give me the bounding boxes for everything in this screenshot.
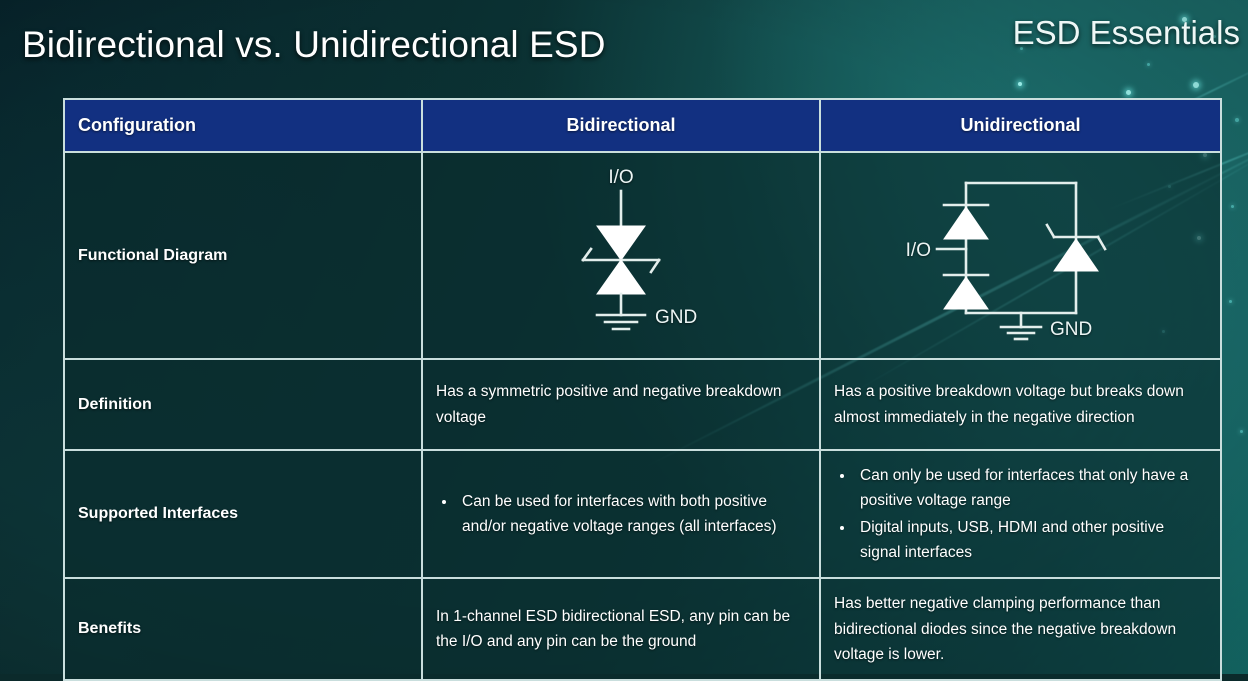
comparison-table: Configuration Bidirectional Unidirection… [63,98,1222,681]
table-row: Functional Diagram I/O [64,152,1221,359]
cell-text: Has a positive breakdown voltage but bre… [834,379,1206,429]
list-item: Digital inputs, USB, HDMI and other posi… [834,515,1206,565]
cell-text: Has a symmetric positive and negative br… [436,379,805,429]
io-label: I/O [905,240,930,261]
cell-text: Has better negative clamping performance… [834,591,1206,666]
unidirectional-rail-to-rail-esd-schematic: I/O [891,161,1151,351]
row-label-definition: Definition [64,359,422,450]
list-item: Can only be used for interfaces that onl… [834,463,1206,513]
bidirectional-diagram-cell: I/O [422,152,820,359]
row-label-functional-diagram: Functional Diagram [64,152,422,359]
io-label: I/O [608,167,633,188]
table-row: Supported Interfaces Can be used for int… [64,450,1221,578]
supported-interfaces-bidirectional-cell: Can be used for interfaces with both pos… [422,450,820,578]
benefits-unidirectional-cell: Has better negative clamping performance… [820,578,1221,679]
benefits-bidirectional-cell: In 1-channel ESD bidirectional ESD, any … [422,578,820,679]
gnd-label: GND [655,307,697,328]
column-header-unidirectional: Unidirectional [820,99,1221,152]
bullet-list: Can be used for interfaces with both pos… [436,489,805,539]
row-label-benefits: Benefits [64,578,422,679]
column-header-configuration: Configuration [64,99,422,152]
definition-bidirectional-cell: Has a symmetric positive and negative br… [422,359,820,450]
table-row: Definition Has a symmetric positive and … [64,359,1221,450]
definition-unidirectional-cell: Has a positive breakdown voltage but bre… [820,359,1221,450]
page-title: Bidirectional vs. Unidirectional ESD [22,24,606,66]
table-header-row: Configuration Bidirectional Unidirection… [64,99,1221,152]
row-label-supported-interfaces: Supported Interfaces [64,450,422,578]
list-item: Can be used for interfaces with both pos… [436,489,805,539]
bidirectional-tvs-diode-schematic: I/O [521,163,721,348]
brand-label: ESD Essentials [1013,14,1240,52]
bullet-list: Can only be used for interfaces that onl… [834,463,1206,565]
table-row: Benefits In 1-channel ESD bidirectional … [64,578,1221,679]
cell-text: In 1-channel ESD bidirectional ESD, any … [436,604,805,654]
column-header-bidirectional: Bidirectional [422,99,820,152]
gnd-label: GND [1050,319,1092,340]
unidirectional-diagram-cell: I/O [820,152,1221,359]
supported-interfaces-unidirectional-cell: Can only be used for interfaces that onl… [820,450,1221,578]
